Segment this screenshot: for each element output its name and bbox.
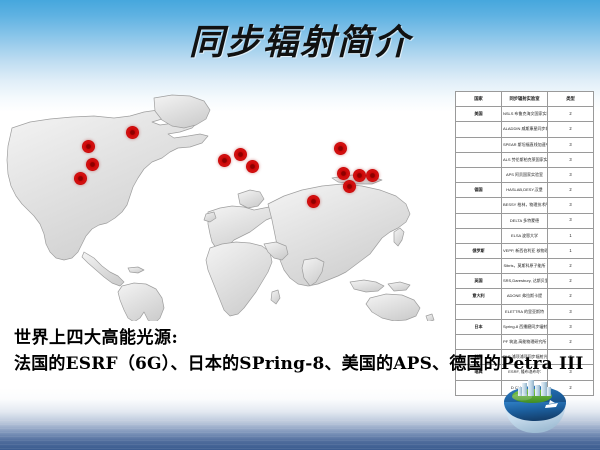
landmass-caribbean	[128, 267, 144, 273]
map-marker[interactable]	[337, 167, 350, 180]
cell-lab: DELTA 多特蒙德	[502, 213, 548, 228]
cell-lab: ADONE 弗拉斯卡提	[502, 289, 548, 304]
map-marker[interactable]	[74, 172, 87, 185]
page-title: 同步辐射简介	[0, 14, 600, 65]
table-row: 英国 SRS,Daresbury, 达斯贝里 2	[456, 274, 594, 289]
earth-globe-svg	[498, 378, 572, 434]
cell-country	[456, 198, 502, 213]
landmass-south-america	[118, 283, 164, 321]
landmass-greenland	[154, 95, 210, 128]
cell-type: 3	[548, 167, 594, 182]
cell-country: 俄罗斯	[456, 243, 502, 258]
table-row: ELETTRA 的里亚斯特 3	[456, 304, 594, 319]
cell-lab: BESSY 柏林，物理技术所	[502, 198, 548, 213]
cell-country	[456, 304, 502, 319]
table-row: 美国 NSLS 布鲁克海文国家实验室 2	[456, 107, 594, 122]
map-marker[interactable]	[82, 140, 95, 153]
cell-type: 1	[548, 243, 594, 258]
cell-type: 1	[548, 228, 594, 243]
cell-country	[456, 380, 502, 395]
table-row: Sibris，莫斯科原子能所 2	[456, 259, 594, 274]
cell-lab: ELSA 波恩大学	[502, 228, 548, 243]
map-marker[interactable]	[218, 154, 231, 167]
table-row: ALADDIN 威斯康星同步辐射中心 2	[456, 122, 594, 137]
cell-country	[456, 213, 502, 228]
table-row: ALS 劳伦斯柏克莱国家实验室 3	[456, 152, 594, 167]
cell-country: 意大利	[456, 289, 502, 304]
world-map	[2, 86, 442, 321]
cell-type: 3	[548, 213, 594, 228]
table-row: BESSY 柏林，物理技术所 3	[456, 198, 594, 213]
cell-type: 2	[548, 259, 594, 274]
table-row: 意大利 ADONE 弗拉斯卡提 2	[456, 289, 594, 304]
caption-line-2: 法国的ESRF（6G）、日本的SPring-8、美国的APS、德国的Petra …	[14, 351, 589, 378]
cell-lab: NSLS 布鲁克海文国家实验室	[502, 107, 548, 122]
cell-type: 3	[548, 137, 594, 152]
map-marker[interactable]	[366, 169, 379, 182]
landmass-scandinavia	[238, 190, 264, 208]
landmass-japan	[394, 228, 404, 246]
cell-type: 3	[548, 198, 594, 213]
landmass-africa	[206, 242, 272, 316]
table-row: 德国 HASLAB,DESY,汉堡 2	[456, 183, 594, 198]
landmass-australia	[366, 294, 420, 321]
cell-lab: APS 阿贡国家实验室	[502, 167, 548, 182]
cell-country	[456, 167, 502, 182]
map-marker[interactable]	[126, 126, 139, 139]
caption-line-1: 世界上四大高能光源:	[14, 326, 589, 351]
cell-lab: VEPP, 新西伯利亚 核物理研究所	[502, 243, 548, 258]
map-marker[interactable]	[334, 142, 347, 155]
cell-country: 德国	[456, 183, 502, 198]
column-header-type: 类型	[548, 92, 594, 107]
map-marker[interactable]	[246, 160, 259, 173]
cell-lab: ALADDIN 威斯康星同步辐射中心	[502, 122, 548, 137]
landmass-new-zealand	[426, 314, 434, 321]
cell-country	[456, 259, 502, 274]
cell-lab: SPEAR 斯坦福直线加速中心	[502, 137, 548, 152]
caption-block: 世界上四大高能光源: 法国的ESRF（6G）、日本的SPring-8、美国的AP…	[14, 326, 589, 378]
cell-country	[456, 228, 502, 243]
cell-country	[456, 152, 502, 167]
column-header-lab: 同步辐射实验室	[502, 92, 548, 107]
map-marker[interactable]	[307, 195, 320, 208]
cell-lab: ALS 劳伦斯柏克莱国家实验室	[502, 152, 548, 167]
column-header-country: 国家	[456, 92, 502, 107]
table-row: APS 阿贡国家实验室 3	[456, 167, 594, 182]
cell-type: 2	[548, 107, 594, 122]
table-row: DELTA 多特蒙德 3	[456, 213, 594, 228]
world-map-svg	[2, 86, 442, 321]
cell-country: 英国	[456, 274, 502, 289]
map-marker[interactable]	[343, 180, 356, 193]
landmass-asia	[268, 184, 410, 286]
table-row: 俄罗斯 VEPP, 新西伯利亚 核物理研究所 1	[456, 243, 594, 258]
cell-country	[456, 122, 502, 137]
table-row: SPEAR 斯坦福直线加速中心 3	[456, 137, 594, 152]
cell-type: 2	[548, 183, 594, 198]
cell-type: 2	[548, 274, 594, 289]
landmass-southeast-asia	[350, 280, 384, 292]
map-marker[interactable]	[86, 158, 99, 171]
cell-country	[456, 137, 502, 152]
cell-type: 3	[548, 152, 594, 167]
landmass-madagascar	[271, 290, 280, 304]
slide-canvas: 同步辐射简介	[0, 0, 600, 450]
cell-lab: Sibris，莫斯科原子能所	[502, 259, 548, 274]
landmass-central-america	[82, 252, 124, 286]
table-row: ELSA 波恩大学 1	[456, 228, 594, 243]
cell-lab: HASLAB,DESY,汉堡	[502, 183, 548, 198]
cell-type: 2	[548, 289, 594, 304]
cell-country: 美国	[456, 107, 502, 122]
landmass-north-america	[7, 110, 208, 260]
table-header-row: 国家 同步辐射实验室 类型	[456, 92, 594, 107]
cell-lab: SRS,Daresbury, 达斯贝里	[502, 274, 548, 289]
cell-lab: ELETTRA 的里亚斯特	[502, 304, 548, 319]
map-marker[interactable]	[234, 148, 247, 161]
earth-globe-graphic	[498, 378, 572, 434]
map-marker[interactable]	[353, 169, 366, 182]
landmass-indonesia-east	[388, 282, 410, 291]
cell-type: 2	[548, 122, 594, 137]
globe-highlight	[512, 394, 532, 401]
cell-type: 3	[548, 304, 594, 319]
